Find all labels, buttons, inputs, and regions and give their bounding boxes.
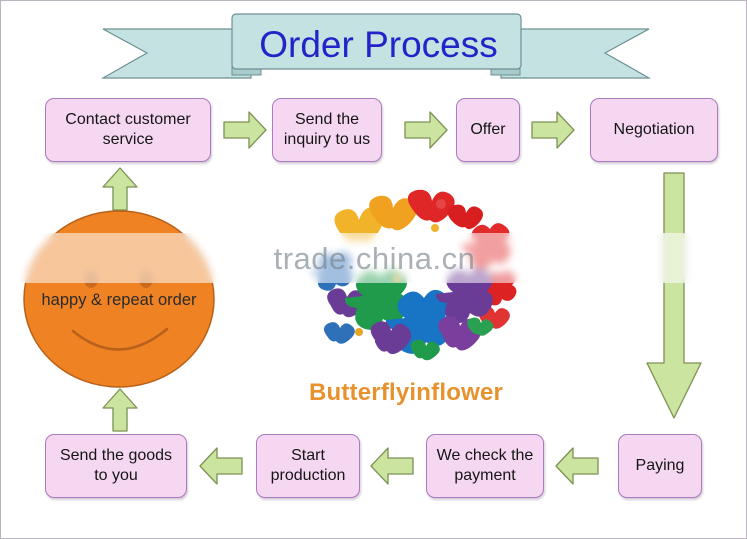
arrow-left-3 bbox=[555, 447, 599, 485]
logo-motif-ring bbox=[312, 190, 517, 361]
step-label: Paying bbox=[636, 456, 685, 476]
arrow-right-3 bbox=[531, 111, 575, 149]
step-negotiation[interactable]: Negotiation bbox=[590, 98, 718, 162]
arrow-down-long bbox=[641, 171, 707, 421]
step-paying[interactable]: Paying bbox=[618, 434, 702, 498]
step-send-inquiry[interactable]: Send the inquiry to us bbox=[272, 98, 382, 162]
arrow-right-1 bbox=[223, 111, 267, 149]
step-label: Negotiation bbox=[614, 120, 695, 140]
step-send-goods[interactable]: Send the goods to you bbox=[45, 434, 187, 498]
happy-customer-smiley: happy & repeat order bbox=[21, 209, 217, 389]
banner-ribbon: Order Process bbox=[101, 11, 651, 81]
butterflyinflower-logo bbox=[301, 186, 531, 376]
step-label: Send the inquiry to us bbox=[279, 110, 375, 151]
smiley-caption: happy & repeat order bbox=[21, 291, 217, 310]
ribbon-left-tail bbox=[103, 29, 251, 78]
smiley-eye-right bbox=[139, 270, 153, 288]
arrow-left-2 bbox=[370, 447, 414, 485]
arrow-up-upper bbox=[101, 166, 139, 212]
arrow-right-2 bbox=[404, 111, 448, 149]
step-check-payment[interactable]: We check the payment bbox=[426, 434, 544, 498]
step-label: We check the payment bbox=[433, 446, 537, 487]
step-label: Send the goods to you bbox=[52, 446, 180, 487]
arrow-left-1 bbox=[199, 447, 243, 485]
step-start-production[interactable]: Start production bbox=[256, 434, 360, 498]
step-label: Offer bbox=[470, 120, 505, 140]
order-process-diagram: Order Process Contact customer service S… bbox=[0, 0, 747, 539]
step-contact-customer-service[interactable]: Contact customer service bbox=[45, 98, 211, 162]
ribbon-right-tail bbox=[501, 29, 649, 78]
logo-caption: Butterflyinflower bbox=[256, 379, 556, 407]
arrow-up-lower bbox=[101, 387, 139, 433]
step-label: Start production bbox=[263, 446, 353, 487]
diagram-title: Order Process bbox=[236, 17, 521, 72]
smiley-eye-left bbox=[84, 270, 98, 288]
step-label: Contact customer service bbox=[52, 110, 204, 151]
step-offer[interactable]: Offer bbox=[456, 98, 520, 162]
